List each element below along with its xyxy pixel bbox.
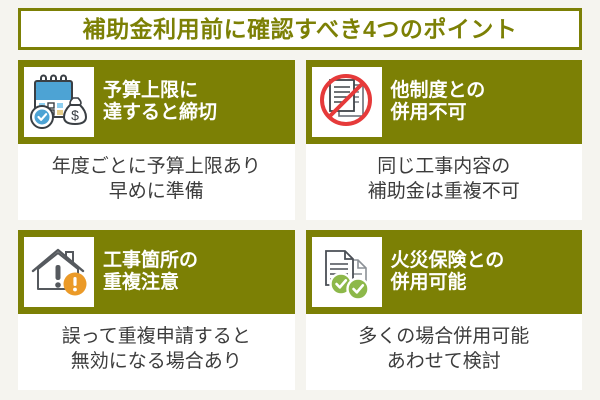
card-body: 誤って重複申請すると 無効になる場合あり	[18, 314, 295, 390]
card-body: 同じ工事内容の 補助金は重複不可	[306, 144, 583, 220]
documents-prohibited-icon	[312, 67, 382, 137]
card-body: 多くの場合併用可能 あわせて検討	[306, 314, 583, 390]
card-heading-line2: 重複注意	[103, 272, 198, 294]
card-heading-line2: 達すると締切	[103, 102, 217, 124]
card-body-line2: 早めに準備	[109, 179, 204, 204]
card-heading-line2: 併用不可	[391, 102, 486, 124]
card-heading-line1: 予算上限に	[103, 80, 217, 102]
page-title: 補助金利用前に確認すべき4つのポイント	[83, 18, 518, 41]
card-heading: 火災保険との 併用可能	[391, 250, 505, 295]
card-body-line1: 同じ工事内容の	[377, 154, 510, 179]
card-body-line1: 誤って重複申請すると	[62, 324, 251, 349]
card-heading-line1: 火災保険との	[391, 250, 505, 272]
infographic-page: 補助金利用前に確認すべき4つのポイント	[0, 0, 600, 400]
card-heading-line2: 併用可能	[391, 272, 505, 294]
card-header: 火災保険との 併用可能	[306, 230, 583, 314]
card-body-line1: 多くの場合併用可能	[358, 324, 529, 349]
point-card-fire-insurance: 火災保険との 併用可能 多くの場合併用可能 あわせて検討	[306, 230, 583, 390]
card-body-line1: 年度ごとに予算上限あり	[52, 154, 261, 179]
point-card-duplicate-work: 工事箇所の 重複注意 誤って重複申請すると 無効になる場合あり	[18, 230, 295, 390]
card-body-line2: 無効になる場合あり	[71, 349, 242, 374]
point-card-budget-limit: $ 予算上限に 達すると締切 年度ごとに予算上限あり 早めに準備	[18, 60, 295, 220]
card-heading: 予算上限に 達すると締切	[103, 80, 217, 125]
page-title-bar: 補助金利用前に確認すべき4つのポイント	[18, 8, 582, 50]
point-card-no-combination: 他制度との 併用不可 同じ工事内容の 補助金は重複不可	[306, 60, 583, 220]
card-body-line2: 補助金は重複不可	[368, 179, 520, 204]
card-header: 他制度との 併用不可	[306, 60, 583, 144]
documents-checked-icon	[312, 237, 382, 307]
house-warning-icon	[24, 237, 94, 307]
svg-text:$: $	[71, 107, 79, 123]
points-grid: $ 予算上限に 達すると締切 年度ごとに予算上限あり 早めに準備	[10, 60, 590, 390]
card-body: 年度ごとに予算上限あり 早めに準備	[18, 144, 295, 220]
card-heading-line1: 工事箇所の	[103, 250, 198, 272]
card-header: $ 予算上限に 達すると締切	[18, 60, 295, 144]
card-header: 工事箇所の 重複注意	[18, 230, 295, 314]
card-heading: 他制度との 併用不可	[391, 80, 486, 125]
card-heading-line1: 他制度との	[391, 80, 486, 102]
calendar-money-check-icon: $	[24, 67, 94, 137]
card-heading: 工事箇所の 重複注意	[103, 250, 198, 295]
card-body-line2: あわせて検討	[387, 349, 501, 374]
